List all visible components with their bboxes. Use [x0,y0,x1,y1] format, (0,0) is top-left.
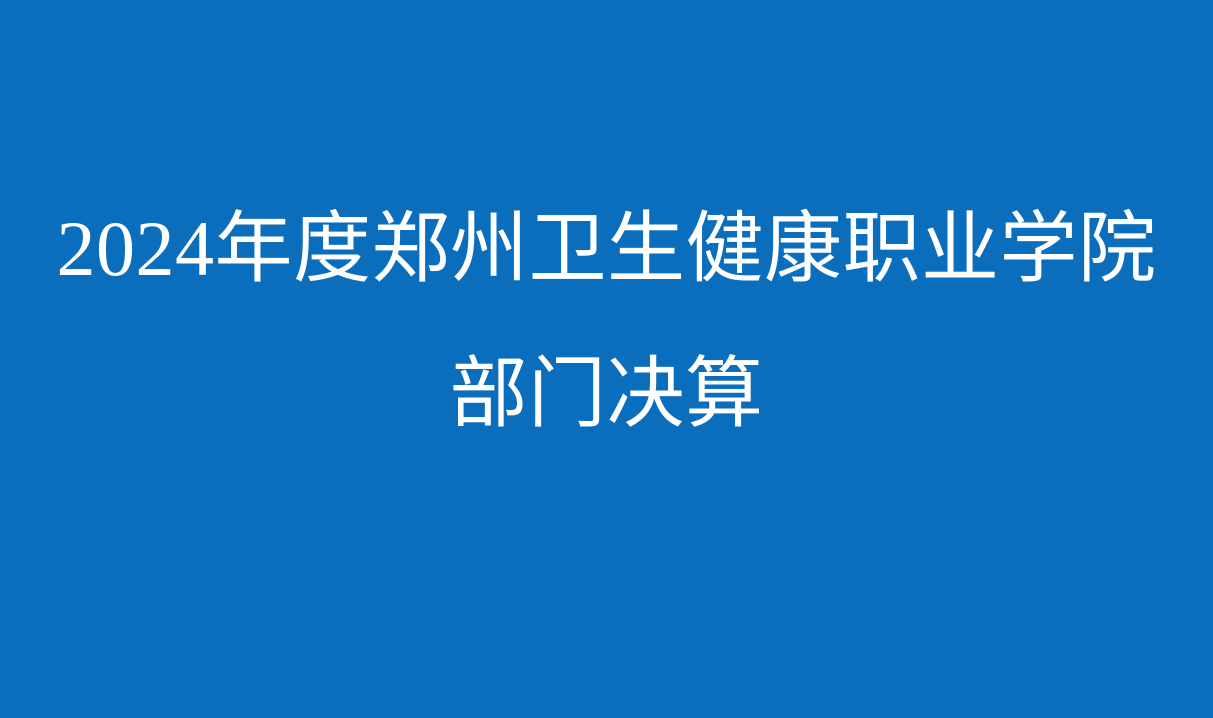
cover-slide: 2024年度郑州卫生健康职业学院 部门决算 [0,0,1213,718]
cover-title-line-2: 部门决算 [0,321,1213,466]
cover-title-block: 2024年度郑州卫生健康职业学院 部门决算 [0,176,1213,542]
cover-title-line-1: 2024年度郑州卫生健康职业学院 [0,176,1213,321]
